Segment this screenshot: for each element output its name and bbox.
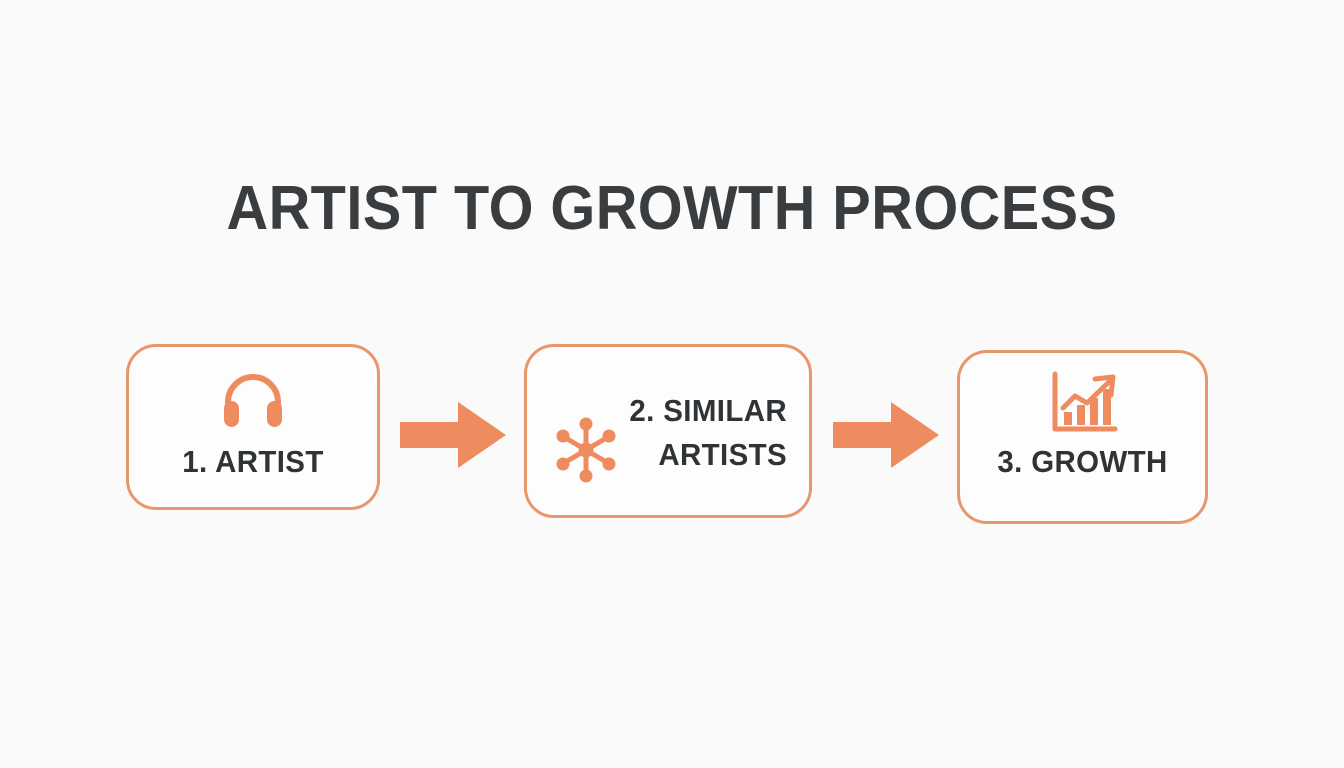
process-step-artist[interactable]: 1. ARTIST <box>126 344 380 510</box>
process-step-artist-label: 1. ARTIST <box>135 445 371 479</box>
headphones-icon <box>220 371 286 429</box>
process-step-similar-artists-label-line1: 2. SIMILAR <box>588 389 788 433</box>
process-step-growth-label: 3. GROWTH <box>966 445 1199 479</box>
page-title: ARTIST TO GROWTH PROCESS <box>47 178 1297 240</box>
diagram-canvas: ARTIST TO GROWTH PROCESS 1. ARTIST <box>0 0 1344 768</box>
growth-chart-icon <box>1047 371 1119 437</box>
process-step-similar-artists-label: 2. SIMILAR ARTISTS <box>588 389 788 477</box>
process-step-growth[interactable]: 3. GROWTH <box>957 350 1208 524</box>
process-step-similar-artists[interactable]: 2. SIMILAR ARTISTS <box>524 344 812 518</box>
process-step-similar-artists-label-line2: ARTISTS <box>588 433 788 477</box>
right-arrow-icon <box>400 400 506 470</box>
right-arrow-icon <box>833 400 939 470</box>
